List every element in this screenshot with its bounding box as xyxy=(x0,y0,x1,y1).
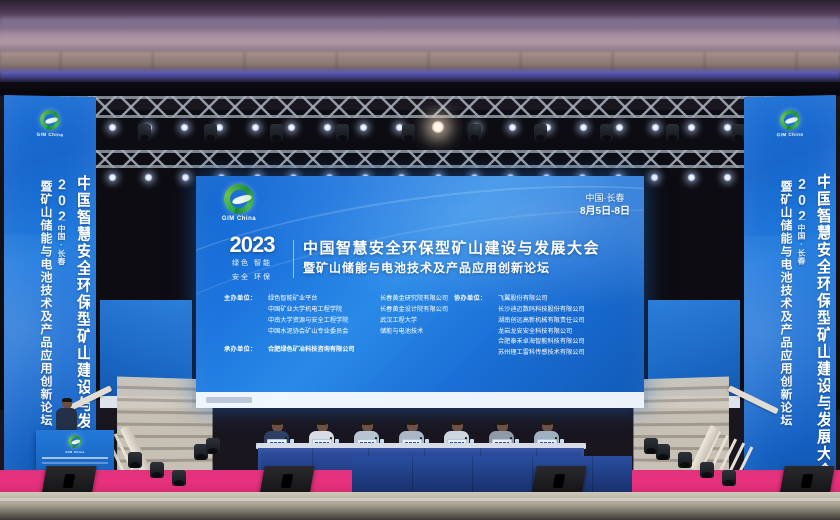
seated-person-hair xyxy=(317,420,328,425)
truss-lower xyxy=(40,150,800,168)
gim-ring-icon xyxy=(780,110,800,130)
left-banner-year: 2023 xyxy=(54,176,70,220)
undertaker-row: 承办单位： 合肥绿色矿冶科技咨询有限公司 xyxy=(224,345,490,356)
moving-head-light xyxy=(270,124,283,141)
floor-par-light xyxy=(644,438,658,454)
gim-china-logo: GIM China xyxy=(37,110,64,138)
co-organizer-item: 湖南创远高新机械有限责任公司 xyxy=(498,316,585,327)
stage-lamp xyxy=(144,173,153,182)
conference-stage-photo: GIM China 中国智慧安全环保型矿山建设与发展大会 2023 中国·长春 … xyxy=(0,0,840,520)
stage-lamp xyxy=(108,123,117,132)
seated-person-hair xyxy=(497,420,508,425)
right-banner-title: 中国智慧安全环保型矿山建设与发展大会 xyxy=(814,173,830,485)
gim-logo-text: GIM China xyxy=(37,132,64,138)
led-dates: 8月5日-8日 xyxy=(580,205,630,220)
co-organizer-item: 飞翼股份有限公司 xyxy=(498,294,548,305)
co-organizer-item: 合肥泰禾卓海智能科技有限公司 xyxy=(498,337,585,348)
co-organizer-row: 苏州理工雷科传感技术有限公司 xyxy=(454,348,585,359)
upper-dark-band xyxy=(0,82,840,96)
stage-lamp xyxy=(723,123,732,132)
organizer-col-a-item: 中国矿业大学机电工程学院 xyxy=(268,305,380,316)
co-organizer-label-spacer xyxy=(454,348,498,359)
co-organizer-item: 长沙迪迈数码科技股份有限公司 xyxy=(498,305,585,316)
stage-light-row-upper xyxy=(36,120,804,134)
led-co-organizers-block: 协办单位： 飞翼股份有限公司 长沙迪迈数码科技股份有限公司 湖南创远高新机械有限… xyxy=(454,294,585,359)
floor-par-light xyxy=(128,452,142,468)
ceiling-light-band-upper xyxy=(0,18,840,28)
floor-par-light xyxy=(700,462,714,478)
standing-speaker xyxy=(56,398,78,432)
led-location-dates: 中国·长春 8月5日-8日 xyxy=(580,192,630,220)
stage-lamp xyxy=(615,123,624,132)
upper-wall-glow xyxy=(0,70,840,82)
stage-lamp xyxy=(287,123,296,132)
gim-china-logo: GIM China xyxy=(222,184,256,222)
seated-person-hair xyxy=(362,420,373,425)
moving-head-light xyxy=(138,124,151,141)
stage-front-skirt xyxy=(352,456,632,494)
stage-lamp xyxy=(323,123,332,132)
led-slogan-line-1: 绿色 智能 xyxy=(220,259,284,270)
gim-china-logo: GIM China xyxy=(65,435,84,454)
moving-head-light xyxy=(468,124,481,141)
right-banner-location: 中国·长春 xyxy=(796,224,807,270)
gim-logo-text: GIM China xyxy=(222,216,256,222)
truss-upper xyxy=(40,96,800,118)
co-organizer-row: 龙岩龙安安全科技有限公司 xyxy=(454,327,585,338)
led-logo: GIM China xyxy=(208,184,270,225)
floor-par-light xyxy=(172,470,186,486)
organizer-label-spacer xyxy=(224,305,268,316)
stage-lamp xyxy=(108,173,117,182)
co-organizer-row: 长沙迪迈数码科技股份有限公司 xyxy=(454,305,585,316)
organizer-row: 中国水泥协会矿山专业委员会 储能与电池技术 xyxy=(224,327,490,338)
floor-par-light xyxy=(150,462,164,478)
moving-head-light xyxy=(534,124,547,141)
led-footer-placeholder-bar xyxy=(206,397,252,403)
co-organizer-label-spacer xyxy=(454,327,498,338)
seated-person-hair xyxy=(542,420,553,425)
gim-ring-icon xyxy=(224,184,254,214)
undertaker-label: 承办单位： xyxy=(224,345,268,356)
co-organizer-item: 龙岩龙安安全科技有限公司 xyxy=(498,327,572,338)
led-footer-strip xyxy=(196,392,644,408)
led-title-sub: 暨矿山储能与电池技术及产品应用创新论坛 xyxy=(303,261,600,277)
ceiling-cornice xyxy=(0,52,840,72)
stage-lamp xyxy=(180,123,189,132)
moving-head-light xyxy=(204,124,217,141)
organizer-label-spacer xyxy=(224,316,268,327)
co-organizer-row: 合肥泰禾卓海智能科技有限公司 xyxy=(454,337,585,348)
stage-lamp xyxy=(651,123,660,132)
led-year: 2023 xyxy=(220,234,284,256)
seated-person-hair xyxy=(272,420,283,425)
stage-lamp xyxy=(579,123,588,132)
co-organizer-label-spacer xyxy=(454,305,498,316)
gim-logo-text: GIM China xyxy=(777,132,804,138)
co-organizer-label: 协办单位： xyxy=(454,294,498,305)
floor-par-light xyxy=(656,444,670,460)
floor-par-light xyxy=(678,452,692,468)
left-banner-location: 中国·长春 xyxy=(56,224,67,270)
moving-head-light xyxy=(600,124,613,141)
floor-par-light xyxy=(206,438,220,454)
organizer-label: 主办单位： xyxy=(224,294,268,305)
stage-lamp xyxy=(650,173,659,182)
seated-person-hair xyxy=(452,420,463,425)
moving-head-light xyxy=(402,124,415,141)
main-led-screen: GIM China 中国·长春 8月5日-8日 2023 绿色 智能 安全 环保… xyxy=(196,176,644,408)
led-location: 中国·长春 xyxy=(580,192,630,205)
banner-logo-left: GIM China xyxy=(24,109,76,141)
ceiling-light-band-lower xyxy=(0,34,840,48)
led-year-block: 2023 绿色 智能 安全 环保 xyxy=(220,234,284,283)
stage-lamp xyxy=(508,123,517,132)
gim-ring-icon xyxy=(40,110,60,130)
co-organizer-row: 湖南创远高新机械有限责任公司 xyxy=(454,316,585,327)
moving-head-light xyxy=(336,124,349,141)
organizer-col-a-item: 中国水泥协会矿山专业委员会 xyxy=(268,327,380,338)
organizer-col-a-item: 中南大学资源与安全工程学院 xyxy=(268,316,380,327)
organizer-row: 中国矿业大学机电工程学院 长春黄金设计院有限公司 xyxy=(224,305,490,316)
undertaker-value: 合肥绿色矿冶科技咨询有限公司 xyxy=(268,345,355,356)
upper-wall-blurred-text xyxy=(430,71,690,81)
led-title-column: 中国智慧安全环保型矿山建设与发展大会 暨矿山储能与电池技术及产品应用创新论坛 xyxy=(303,240,600,276)
stage-lamp xyxy=(687,173,696,182)
organizer-label-spacer xyxy=(224,327,268,338)
led-organizers-block: 主办单位： 绿色智能矿业平台 长春黄金研究院有限公司 中国矿业大学机电工程学院 … xyxy=(224,294,490,356)
organizer-row: 主办单位： 绿色智能矿业平台 长春黄金研究院有限公司 xyxy=(224,294,490,305)
stage-lamp xyxy=(431,120,445,134)
gim-china-logo: GIM China xyxy=(777,110,804,138)
podium-logo: GIM China xyxy=(65,435,84,458)
co-organizer-item: 苏州理工雷科传感技术有限公司 xyxy=(498,348,585,359)
organizer-col-a-item: 绿色智能矿业平台 xyxy=(268,294,380,305)
stage-lamp xyxy=(181,173,190,182)
co-organizer-label-spacer xyxy=(454,337,498,348)
gim-ring-icon xyxy=(69,435,82,448)
led-title-divider xyxy=(293,240,294,278)
led-slogan-line-2: 安全 环保 xyxy=(220,273,284,284)
seated-person-hair xyxy=(407,420,418,425)
right-banner-year: 2023 xyxy=(794,176,810,220)
led-title-main: 中国智慧安全环保型矿山建设与发展大会 xyxy=(303,240,600,259)
organizer-row: 中南大学资源与安全工程学院 武汉工程大学 xyxy=(224,316,490,327)
co-organizer-label-spacer xyxy=(454,316,498,327)
floor-par-light xyxy=(722,470,736,486)
stage-apron xyxy=(0,492,840,520)
stage-lamp xyxy=(359,123,368,132)
moving-head-light xyxy=(666,124,679,141)
stage-lamp xyxy=(723,173,732,182)
right-banner-subtitle: 暨矿山储能与电池技术及产品应用创新论坛 xyxy=(780,180,792,492)
led-title-row: 2023 绿色 智能 安全 环保 中国智慧安全环保型矿山建设与发展大会 暨矿山储… xyxy=(220,234,600,283)
stage-lamp xyxy=(687,123,696,132)
venue-ceiling xyxy=(0,0,840,88)
co-organizer-row: 协办单位： 飞翼股份有限公司 xyxy=(454,294,585,305)
gim-logo-text: GIM China xyxy=(65,450,84,454)
stage-lamp xyxy=(251,123,260,132)
banner-logo-right: GIM China xyxy=(764,109,816,141)
